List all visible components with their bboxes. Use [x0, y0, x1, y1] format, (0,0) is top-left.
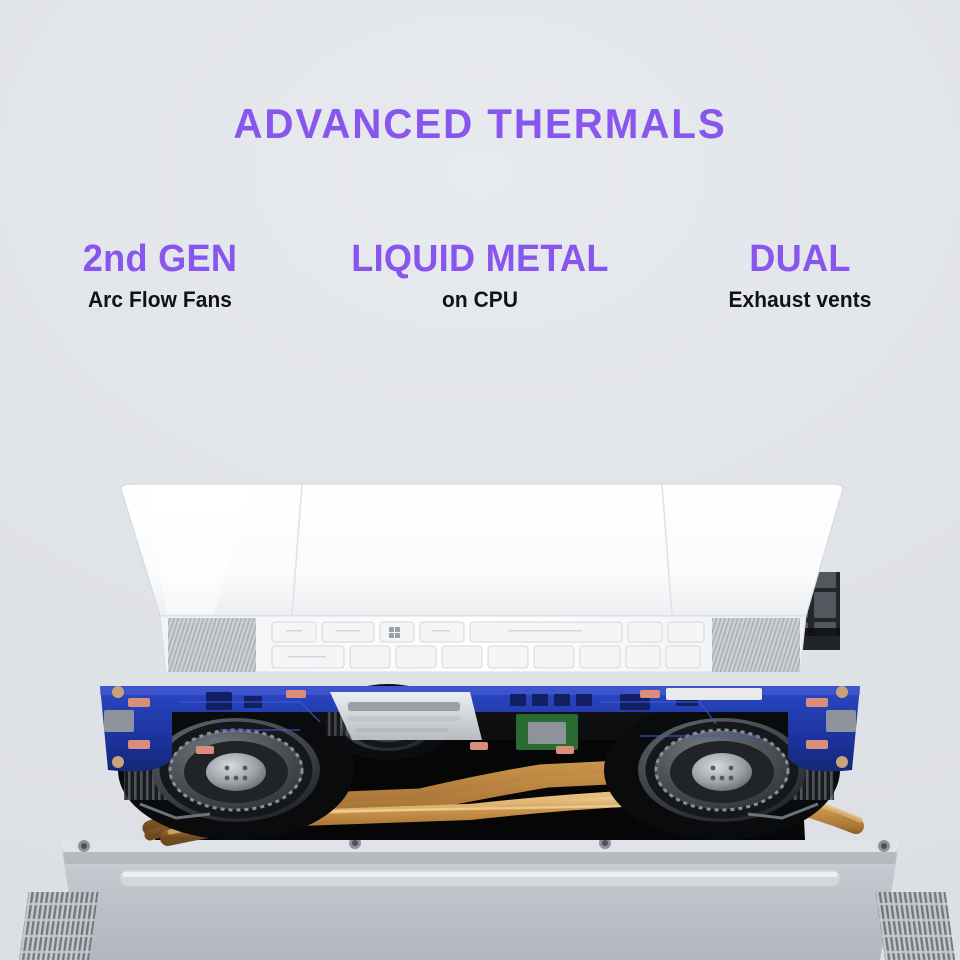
marketing-slide: ADVANCED THERMALS 2nd GEN Arc Flow Fans … [0, 0, 960, 960]
feature-headline: DUAL [654, 240, 947, 280]
feature-headline: 2nd GEN [14, 240, 307, 280]
feature-subtitle: Exhaust vents [654, 287, 947, 313]
ribbon-cable [666, 688, 762, 700]
feature-arc-flow-fans: 2nd GEN Arc Flow Fans [0, 240, 320, 313]
gpu-die [516, 714, 578, 750]
page-title: ADVANCED THERMALS [19, 100, 941, 148]
feature-headline: LIQUID METAL [334, 240, 627, 280]
bottom-cover-layer [19, 837, 955, 960]
speaker-grille-right [712, 618, 800, 672]
speaker-grille-left [168, 618, 256, 672]
feature-liquid-metal: LIQUID METAL on CPU [320, 240, 640, 313]
cpu-heat-spreader [330, 692, 482, 740]
feature-subtitle: on CPU [334, 287, 627, 313]
feature-subtitle: Arc Flow Fans [14, 287, 307, 313]
feature-row: 2nd GEN Arc Flow Fans LIQUID METAL on CP… [0, 240, 960, 313]
feature-exhaust-vents: DUAL Exhaust vents [640, 240, 960, 313]
product-exploded-view [0, 440, 960, 960]
